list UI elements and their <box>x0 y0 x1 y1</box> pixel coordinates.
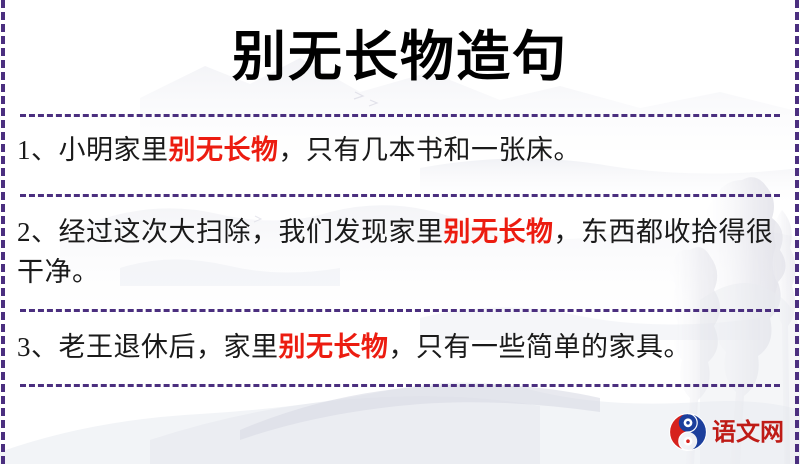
sentence-1-index: 1、 <box>17 135 59 165</box>
sentence-2-before: 经过这次大扫除，我们发现家里 <box>59 217 444 247</box>
sentence-3-after: ，只有一些简单的家具。 <box>389 332 692 362</box>
sentence-3-before: 老王退休后，家里 <box>59 332 279 362</box>
sentence-1-keyword: 别无长物 <box>169 135 279 165</box>
site-logo[interactable]: 语文网 <box>668 410 784 454</box>
sentence-1-after: ，只有几本书和一张床。 <box>279 135 582 165</box>
page-title: 别无长物造句 <box>0 22 800 90</box>
taiji-circle-icon <box>668 412 708 452</box>
sentence-2-keyword: 别无长物 <box>444 217 554 247</box>
divider-after-sentence-1 <box>20 194 780 197</box>
slide-page: 别无长物造句 1、小明家里别无长物，只有几本书和一张床。 2、经过这次大扫除，我… <box>0 0 800 464</box>
divider-after-sentence-2 <box>20 309 780 312</box>
sentence-3-index: 3、 <box>17 332 59 362</box>
logo-text: 语文网 <box>712 420 784 444</box>
example-sentence-3: 3、老王退休后，家里别无长物，只有一些简单的家具。 <box>17 327 779 367</box>
sentence-3-keyword: 别无长物 <box>279 332 389 362</box>
sentence-1-before: 小明家里 <box>59 135 169 165</box>
divider-after-sentence-3 <box>20 384 780 387</box>
example-sentence-2: 2、经过这次大扫除，我们发现家里别无长物，东西都收拾得很干净。 <box>17 212 779 292</box>
example-sentence-1: 1、小明家里别无长物，只有几本书和一张床。 <box>17 130 779 170</box>
sentence-2-index: 2、 <box>17 217 59 247</box>
divider-below-title <box>20 114 780 117</box>
